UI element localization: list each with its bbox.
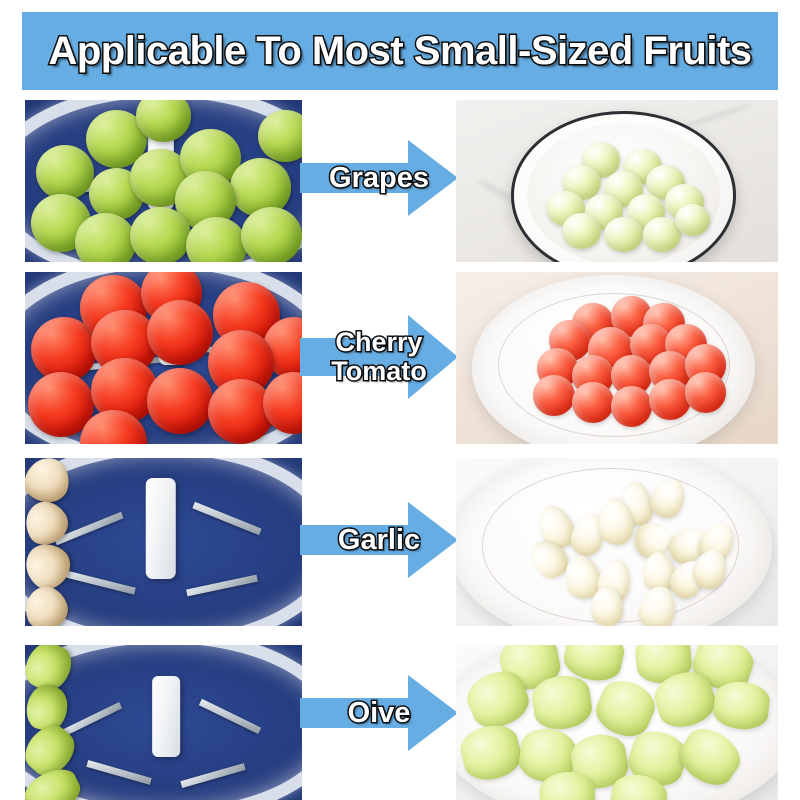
peeled-item: [562, 213, 601, 249]
row-label-grapes: Grapes: [329, 164, 429, 193]
before-photo-olive: [25, 645, 302, 800]
product-row-grapes: Grapes: [0, 100, 800, 262]
header-banner: Applicable To Most Small-Sized Fruits: [22, 12, 778, 90]
arrow-garlic: Garlic: [300, 490, 458, 590]
fruit-item: [130, 207, 191, 262]
peeled-item: [611, 386, 653, 427]
product-row-olive: Oive: [0, 645, 800, 800]
infographic-page: Applicable To Most Small-Sized Fruits: [0, 0, 800, 800]
peeled-item: [649, 379, 691, 420]
row-label-garlic: Garlic: [338, 526, 420, 555]
row-label-olive: Oive: [348, 699, 411, 728]
row-label-cherry-tomato: Cherry Tomato: [331, 328, 427, 385]
product-row-garlic: Garlic: [0, 458, 800, 626]
arrow-cherry-tomato: Cherry Tomato: [300, 302, 458, 412]
device-center-post: [145, 478, 175, 579]
fruit-item: [147, 368, 213, 433]
after-photo-garlic: [456, 458, 778, 626]
after-photo-olive: [456, 645, 778, 800]
before-photo-grapes: [25, 100, 302, 262]
peeled-item: [572, 382, 614, 423]
product-row-cherry-tomato: Cherry Tomato: [0, 272, 800, 444]
page-title: Applicable To Most Small-Sized Fruits: [48, 31, 751, 71]
before-photo-garlic: [25, 458, 302, 626]
before-photo-cherry-tomato: [25, 272, 302, 444]
fruit-item: [147, 300, 213, 365]
fruit-item: [75, 213, 136, 262]
after-photo-grapes: [456, 100, 778, 262]
peeled-item: [604, 217, 643, 253]
peeled-item: [685, 372, 727, 413]
device-center-post: [152, 676, 180, 757]
arrow-grapes: Grapes: [300, 128, 458, 228]
after-photo-cherry-tomato: [456, 272, 778, 444]
fruit-item: [241, 207, 302, 262]
arrow-olive: Oive: [300, 663, 458, 763]
